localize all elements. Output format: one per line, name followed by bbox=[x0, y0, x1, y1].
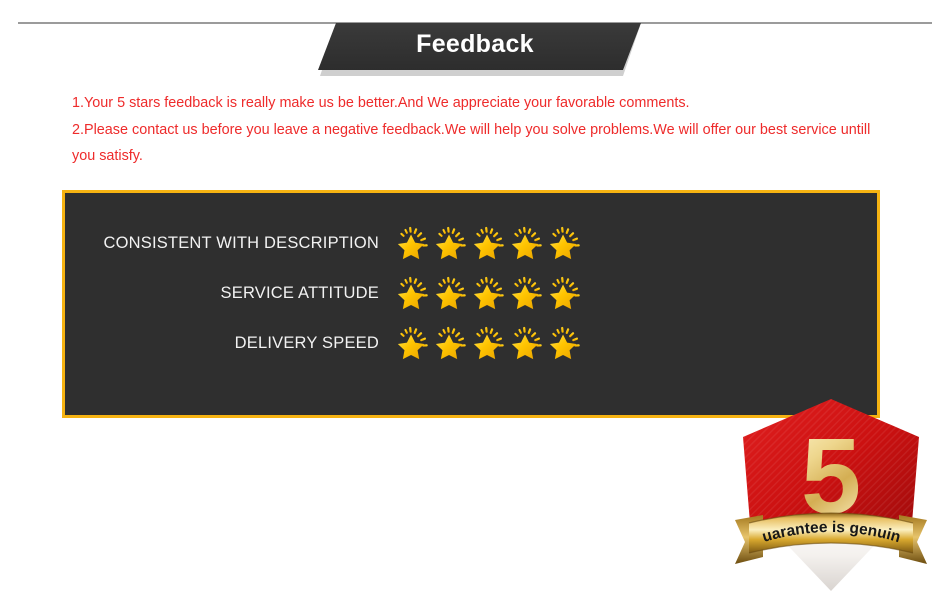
page-title: Feedback bbox=[0, 30, 950, 58]
star-icon bbox=[549, 276, 583, 310]
rating-panel: CONSISTENT WITH DESCRIPTION SERVICE ATTI… bbox=[62, 190, 880, 418]
note-line-2: 2.Please contact us before you leave a n… bbox=[72, 117, 884, 170]
star-icon bbox=[397, 276, 431, 310]
star-icon bbox=[511, 326, 545, 360]
star-icon bbox=[511, 276, 545, 310]
star-icon bbox=[435, 226, 469, 260]
guarantee-shield-badge: 5 guarantee is genuine bbox=[733, 391, 929, 599]
rating-label-service-attitude: SERVICE ATTITUDE bbox=[65, 284, 397, 303]
star-rating-consistent-with-description bbox=[397, 226, 583, 260]
star-icon bbox=[435, 276, 469, 310]
star-icon bbox=[511, 226, 545, 260]
star-icon bbox=[473, 326, 507, 360]
star-rating-delivery-speed bbox=[397, 326, 583, 360]
star-icon bbox=[397, 226, 431, 260]
rating-label-delivery-speed: DELIVERY SPEED bbox=[65, 334, 397, 353]
star-icon bbox=[549, 226, 583, 260]
star-icon bbox=[435, 326, 469, 360]
rating-row-list: CONSISTENT WITH DESCRIPTION SERVICE ATTI… bbox=[65, 219, 645, 369]
note-line-1: 1.Your 5 stars feedback is really make u… bbox=[72, 90, 884, 117]
table-row: SERVICE ATTITUDE bbox=[65, 269, 645, 317]
table-row: DELIVERY SPEED bbox=[65, 319, 645, 367]
star-icon bbox=[397, 326, 431, 360]
star-rating-service-attitude bbox=[397, 276, 583, 310]
rating-label-consistent-with-description: CONSISTENT WITH DESCRIPTION bbox=[65, 234, 397, 253]
feedback-notes: 1.Your 5 stars feedback is really make u… bbox=[72, 90, 884, 170]
star-icon bbox=[473, 276, 507, 310]
table-row: CONSISTENT WITH DESCRIPTION bbox=[65, 219, 645, 267]
star-icon bbox=[473, 226, 507, 260]
shield-icon: 5 guarantee is genuine bbox=[733, 391, 929, 599]
page-header: Feedback bbox=[0, 0, 950, 88]
star-icon bbox=[549, 326, 583, 360]
